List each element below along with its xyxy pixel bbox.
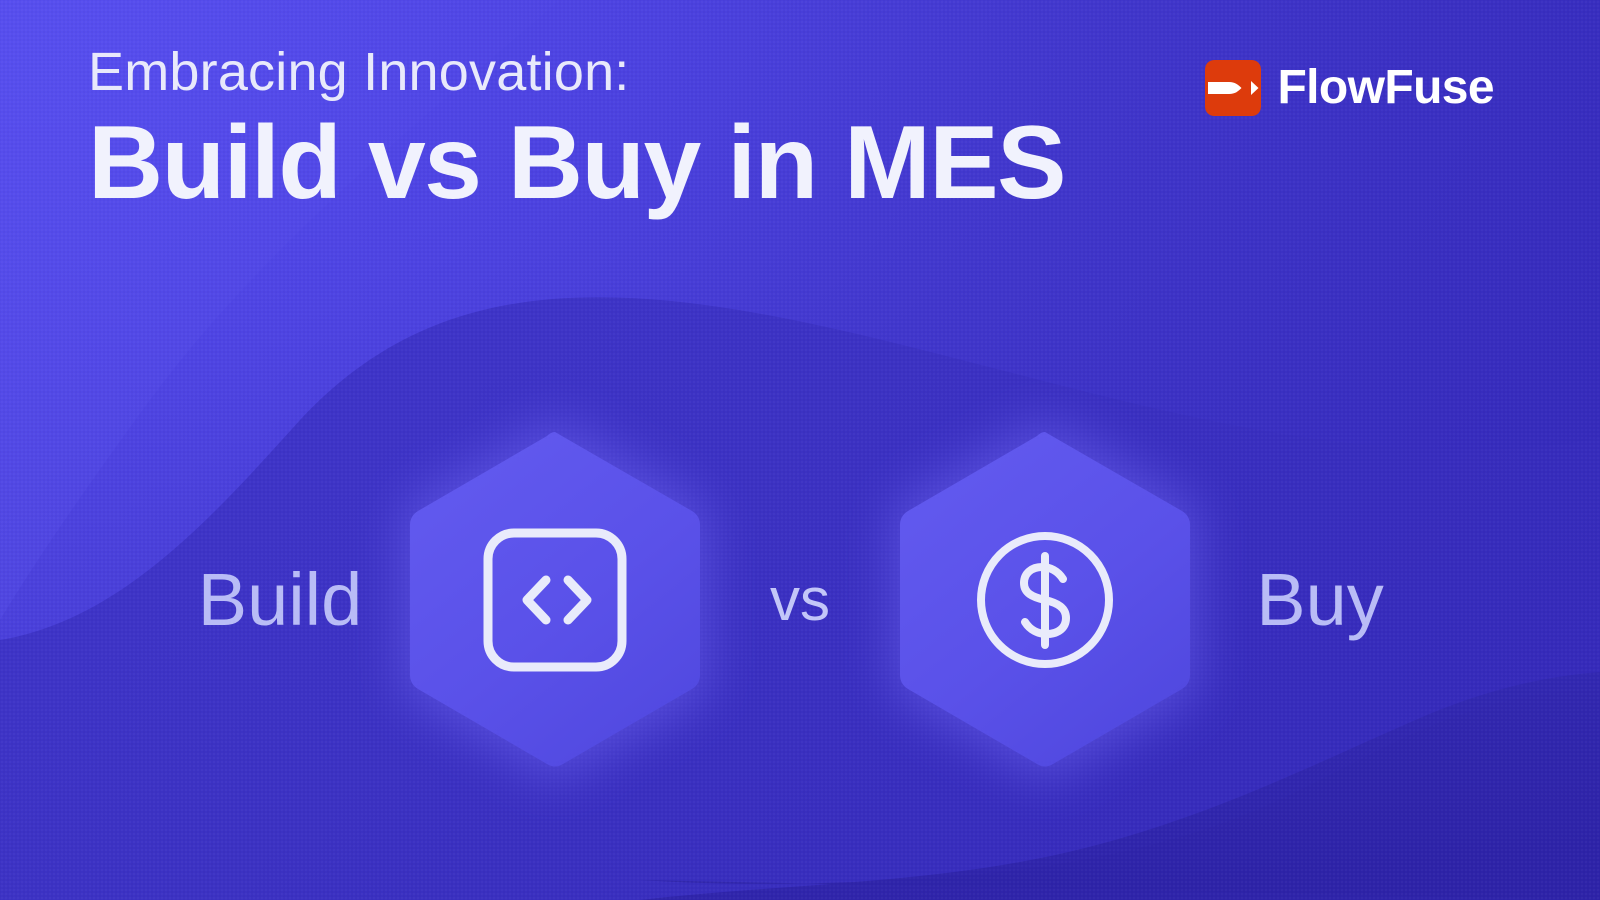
flowfuse-logo[interactable]: FlowFuse <box>1205 60 1494 116</box>
flowfuse-logo-icon <box>1205 60 1261 116</box>
header-block: Embracing Innovation: Build vs Buy in ME… <box>88 42 1065 219</box>
dollar-circle-icon <box>970 525 1120 675</box>
flowfuse-wordmark: FlowFuse <box>1277 64 1494 112</box>
build-label: Build <box>175 563 385 637</box>
kicker-text: Embracing Innovation: <box>88 42 1065 102</box>
page-title: Build vs Buy in MES <box>88 108 1065 218</box>
buy-hexagon[interactable] <box>875 410 1215 790</box>
versus-label: vs <box>725 570 875 630</box>
buy-label: Buy <box>1215 563 1425 637</box>
code-brackets-icon <box>480 525 630 675</box>
comparison-row: Build <box>0 410 1600 790</box>
hero-banner: Embracing Innovation: Build vs Buy in ME… <box>0 0 1600 900</box>
build-hexagon[interactable] <box>385 410 725 790</box>
